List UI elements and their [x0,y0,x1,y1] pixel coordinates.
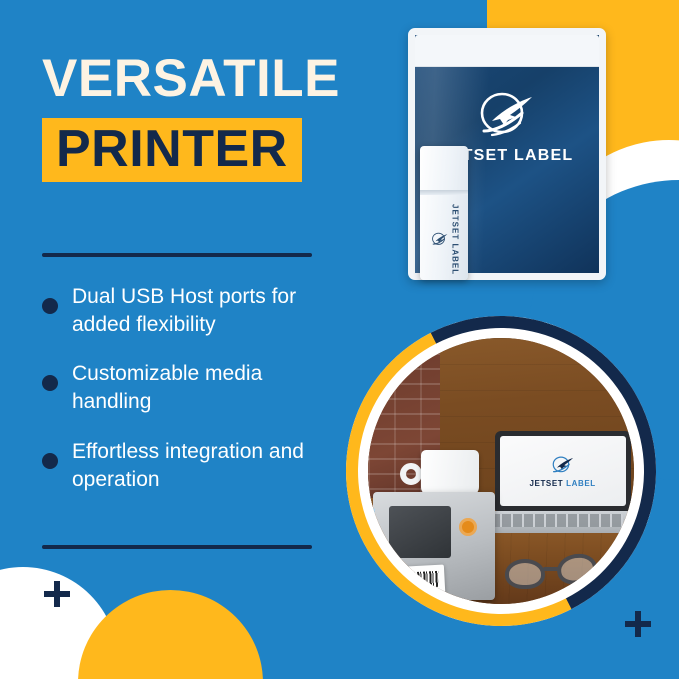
yellow-circle-bottom-left [78,590,263,679]
printer-display-screen [368,508,375,544]
label-text-lines [392,591,433,604]
jet-plane-swoosh-logo-icon [548,455,578,477]
marketing-poster: VERSATILE PRINTER Dual USB Host ports fo… [0,0,679,679]
headline-line-2: PRINTER [56,123,288,175]
bullet-dot-icon [42,298,58,314]
laptop-screen-brand-text: JETSET LABEL [529,479,595,488]
brand-text-part-1: JETSET [529,479,563,488]
bullet-dot-icon [42,453,58,469]
mug-handle [400,463,422,485]
headline-block: VERSATILE PRINTER [42,52,342,182]
divider-top [42,253,312,257]
usb-brand-text: JETSET LABEL [451,204,460,275]
list-item: Customizable media handling [42,360,342,415]
list-item: Effortless integration and operation [42,438,342,493]
laptop-lid: JETSET LABEL [495,431,631,511]
circular-photo-frame: JETSET LABEL [346,316,656,626]
laptop: JETSET LABEL [495,431,634,551]
usb-brand-lockup: JETSET LABEL [420,204,468,276]
bullet-dot-icon [42,375,58,391]
eyeglass-lens-left [505,559,545,589]
barcode-icon [391,571,440,589]
headline-line-2-highlight: PRINTER [42,118,302,182]
box-top-edge [415,35,599,67]
workspace-photo: JETSET LABEL [368,338,634,604]
eyeglasses [505,559,597,593]
label-printer [373,492,495,600]
usb-cap-seam [420,190,468,195]
printer-media-knob [459,518,477,536]
headline-line-1: VERSATILE [42,52,342,106]
feature-text: Customizable media handling [72,360,342,415]
jet-plane-swoosh-logo-icon [470,91,544,143]
feature-text: Dual USB Host ports for added flexibilit… [72,283,342,338]
brand-text-part-2: LABEL [566,479,596,488]
laptop-screen: JETSET LABEL [500,436,626,506]
coffee-mug [421,450,479,496]
list-item: Dual USB Host ports for added flexibilit… [42,283,342,338]
jet-plane-swoosh-logo-icon [429,230,451,250]
feature-list: Dual USB Host ports for added flexibilit… [42,283,342,515]
usb-flash-drive: JETSET LABEL [420,146,468,280]
laptop-base [485,511,634,533]
printed-barcode-label [386,565,446,604]
eyeglass-bridge [543,567,559,571]
printer-front-panel [389,506,451,558]
plus-decor-icon [44,581,70,607]
feature-text: Effortless integration and operation [72,438,342,493]
divider-bottom [42,545,312,549]
laptop-keyboard [491,514,623,527]
